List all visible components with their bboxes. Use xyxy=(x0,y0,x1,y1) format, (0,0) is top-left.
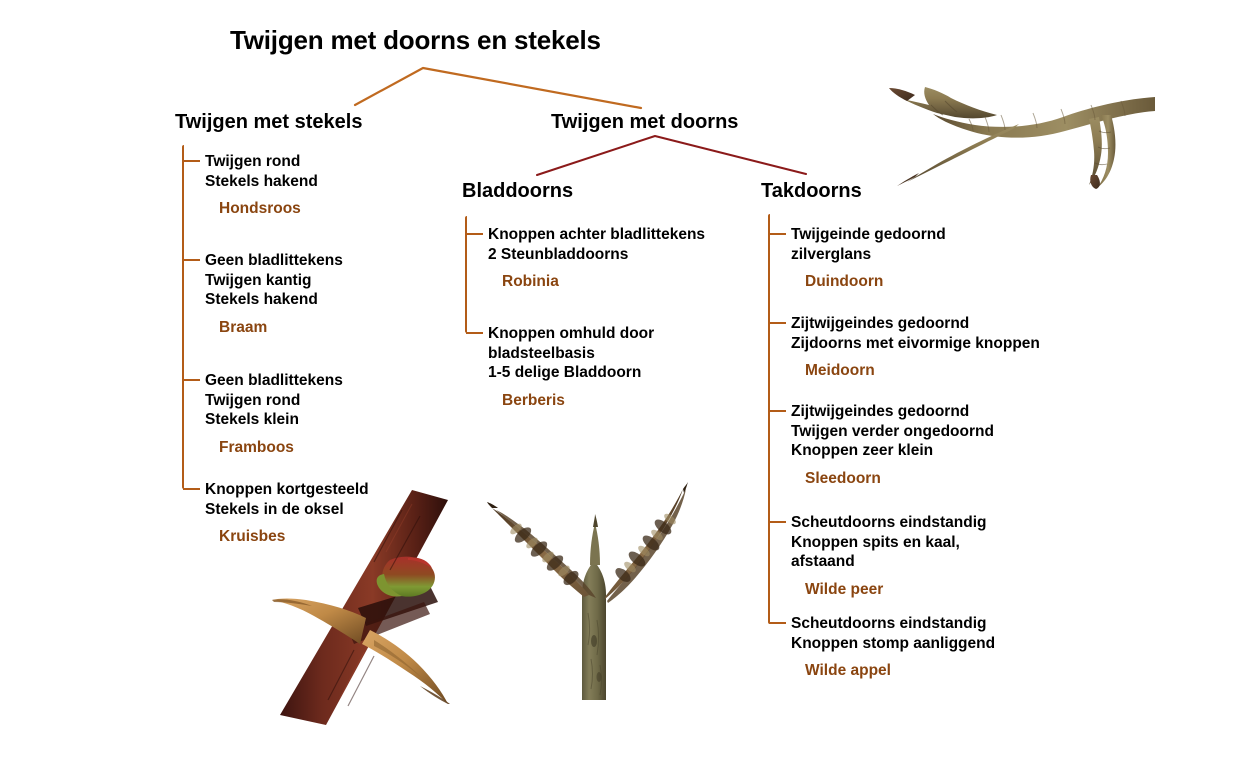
species-name: Framboos xyxy=(219,439,343,457)
entry-desc-line: Geen bladlittekens xyxy=(205,371,343,391)
tick-takdoorns-5 xyxy=(769,622,786,624)
branch-title-takdoorns: Takdoorns xyxy=(761,180,862,203)
tick-stekels-2 xyxy=(183,259,200,261)
entry-desc-line: Stekels hakend xyxy=(205,290,343,310)
entry-desc-line: Twijgen rond xyxy=(205,391,343,411)
tick-stekels-4 xyxy=(183,488,200,490)
species-name: Sleedoorn xyxy=(805,470,994,488)
tick-takdoorns-3 xyxy=(769,410,786,412)
species-name: Braam xyxy=(219,319,343,337)
species-name: Robinia xyxy=(502,273,705,291)
entry-desc-line: Twijgen kantig xyxy=(205,271,343,291)
entry-desc-line: afstaand xyxy=(791,552,986,572)
connector-level2 xyxy=(537,136,806,175)
tick-bladdoorns-2 xyxy=(466,332,483,334)
tick-takdoorns-2 xyxy=(769,322,786,324)
diagram-canvas: Twijgen met doorns en stekels Twijgen me… xyxy=(0,0,1234,762)
entry-meidoorn: Zijtwijgeindes gedoornd Zijdoorns met ei… xyxy=(791,314,1040,380)
entry-desc-line: Zijtwijgeindes gedoornd xyxy=(791,402,994,422)
species-name: Wilde appel xyxy=(805,662,995,680)
branch-title-stekels: Twijgen met stekels xyxy=(175,111,362,134)
entry-desc-line: Scheutdoorns eindstandig xyxy=(791,513,986,533)
entry-desc-line: Zijtwijgeindes gedoornd xyxy=(791,314,1040,334)
entry-desc-line: Stekels klein xyxy=(205,410,343,430)
entry-desc-line: 1-5 delige Bladdoorn xyxy=(488,363,654,383)
tick-stekels-1 xyxy=(183,160,200,162)
thorny-branch-photo-top-right xyxy=(885,25,1155,190)
entry-desc-line: Twijgen rond xyxy=(205,152,318,172)
entry-framboos: Geen bladlittekens Twijgen rond Stekels … xyxy=(205,371,343,457)
species-name: Hondsroos xyxy=(219,200,318,218)
entry-desc-line: Zijdoorns met eivormige knoppen xyxy=(791,334,1040,354)
entry-wilde-peer: Scheutdoorns eindstandig Knoppen spits e… xyxy=(791,513,986,599)
entry-braam: Geen bladlittekens Twijgen kantig Stekel… xyxy=(205,251,343,337)
entry-desc-line: bladsteelbasis xyxy=(488,344,654,364)
species-name: Meidoorn xyxy=(805,362,1040,380)
tick-stekels-3 xyxy=(183,379,200,381)
entry-desc-line: Geen bladlittekens xyxy=(205,251,343,271)
entry-desc-line: 2 Steunbladdoorns xyxy=(488,245,705,265)
connector-level1 xyxy=(355,68,641,108)
entry-berberis: Knoppen omhuld door bladsteelbasis 1-5 d… xyxy=(488,324,654,410)
tick-takdoorns-4 xyxy=(769,521,786,523)
entry-wilde-appel: Scheutdoorns eindstandig Knoppen stomp a… xyxy=(791,614,995,680)
branch-title-doorns: Twijgen met doorns xyxy=(551,111,738,134)
bracket-stekels xyxy=(182,145,184,489)
entry-desc-line: Twijgen verder ongedoornd xyxy=(791,422,994,442)
species-name: Duindoorn xyxy=(805,273,946,291)
species-name: Berberis xyxy=(502,392,654,410)
entry-hondsroos: Twijgen rond Stekels hakend Hondsroos xyxy=(205,152,318,218)
species-name: Wilde peer xyxy=(805,581,986,599)
entry-desc-line: Scheutdoorns eindstandig xyxy=(791,614,995,634)
entry-desc-line: Knoppen stomp aanliggend xyxy=(791,634,995,654)
entry-desc-line: Twijgeinde gedoornd xyxy=(791,225,946,245)
entry-robinia: Knoppen achter bladlittekens 2 Steunblad… xyxy=(488,225,705,291)
entry-desc-line: Knoppen omhuld door xyxy=(488,324,654,344)
bracket-takdoorns xyxy=(768,214,770,624)
branch-title-bladdoorns: Bladdoorns xyxy=(462,180,573,203)
prickly-stem-photo-bottom-left xyxy=(262,490,462,725)
entry-desc-line: Stekels hakend xyxy=(205,172,318,192)
entry-desc-line: Knoppen spits en kaal, xyxy=(791,533,986,553)
entry-desc-line: zilverglans xyxy=(791,245,946,265)
entry-sleedoorn: Zijtwijgeindes gedoornd Twijgen verder o… xyxy=(791,402,994,488)
forked-twig-photo-middle xyxy=(487,445,702,700)
entry-desc-line: Knoppen zeer klein xyxy=(791,441,994,461)
page-title: Twijgen met doorns en stekels xyxy=(230,25,601,56)
entry-duindoorn: Twijgeinde gedoornd zilverglans Duindoor… xyxy=(791,225,946,291)
tick-takdoorns-1 xyxy=(769,233,786,235)
tick-bladdoorns-1 xyxy=(466,233,483,235)
entry-desc-line: Knoppen achter bladlittekens xyxy=(488,225,705,245)
